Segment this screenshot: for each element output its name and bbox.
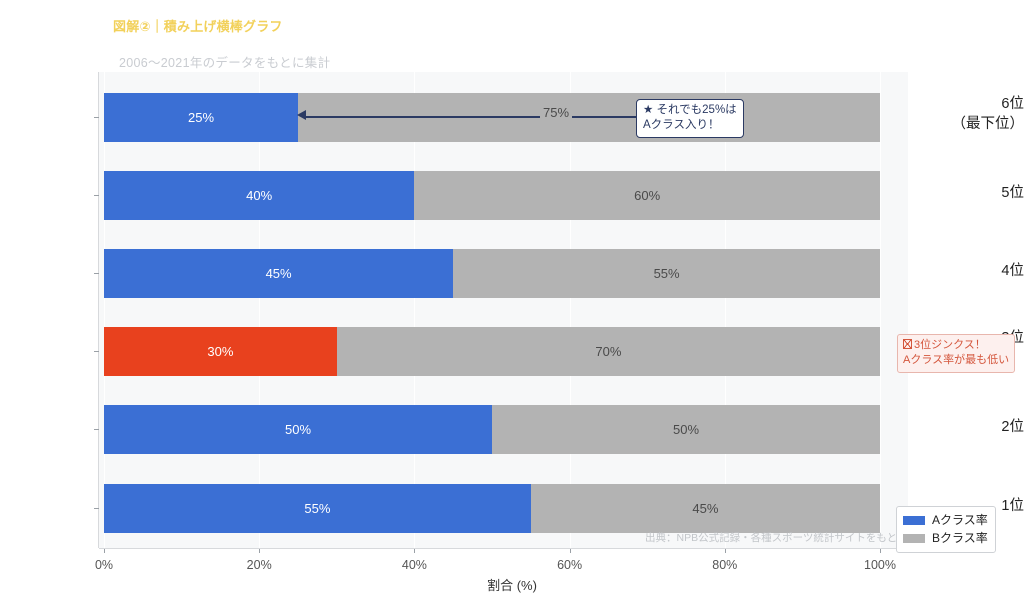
annotation-arrow-head-icon: [297, 110, 306, 120]
bar-row: 50%50%: [0, 405, 1024, 454]
bar-segment-a[interactable]: 50%: [104, 405, 492, 454]
x-axis-label: 割合 (%): [0, 575, 1024, 594]
bar-segment-b[interactable]: 70%: [337, 327, 880, 376]
y-tick-label-sub: （最下位）: [932, 115, 1024, 135]
x-tick-mark: [570, 549, 571, 553]
gridline: [880, 72, 881, 548]
y-tick-label-main: 1位: [1001, 498, 1024, 514]
annotation-red-line2: Aクラス率が最も低い: [903, 353, 1009, 368]
legend: Aクラス率Bクラス率: [896, 506, 996, 553]
legend-swatch-b: [903, 534, 925, 543]
bar-row: 30%70%: [0, 327, 1024, 376]
x-tick-label: 60%: [557, 558, 582, 572]
bar-segment-a[interactable]: 55%: [104, 484, 531, 533]
y-tick-label: 2位: [932, 418, 1024, 438]
legend-item[interactable]: Bクラス率: [903, 529, 988, 547]
x-tick-label: 80%: [712, 558, 737, 572]
bar-segment-a[interactable]: 40%: [104, 171, 414, 220]
legend-item-label: Bクラス率: [932, 529, 988, 547]
bar-segment-a[interactable]: 25%: [104, 93, 298, 142]
annotation-red-line1: 3位ジンクス！: [914, 339, 986, 351]
x-axis-spine: [99, 548, 908, 549]
y-axis-spine: [98, 72, 99, 548]
bar-row: 40%60%: [0, 171, 1024, 220]
annotation-callout-blue: ★ それでも25%は Aクラス入り！: [636, 99, 744, 138]
bar-row: 45%55%: [0, 249, 1024, 298]
y-tick-label: 5位: [932, 184, 1024, 204]
x-tick-mark: [259, 549, 260, 553]
annotation-arrow-label: 75%: [540, 105, 572, 120]
y-tick-label-main: 2位: [1001, 419, 1024, 435]
source-note: 出典：NPB公式記録・各種スポーツ統計サイトをもとに作成: [645, 530, 929, 545]
gridline: [104, 72, 105, 548]
y-tick-mark: [94, 273, 99, 274]
bar-segment-b[interactable]: 45%: [531, 484, 880, 533]
annotation-callout-red: 3位ジンクス！ Aクラス率が最も低い: [897, 334, 1015, 373]
annotation-red-line1-wrap: 3位ジンクス！: [903, 338, 1009, 353]
legend-item[interactable]: Aクラス率: [903, 511, 988, 529]
annotation-arrow-line: [303, 116, 636, 118]
x-tick-mark: [104, 549, 105, 553]
y-tick-label: 4位: [932, 262, 1024, 282]
bar-segment-b[interactable]: 55%: [453, 249, 880, 298]
gridline: [725, 72, 726, 548]
y-tick-label-main: 4位: [1001, 263, 1024, 279]
bar-row: 55%45%: [0, 484, 1024, 533]
tofu-box-icon: [903, 339, 912, 349]
y-tick-label-main: 5位: [1001, 185, 1024, 201]
y-tick-mark: [94, 351, 99, 352]
bar-segment-a-highlight[interactable]: 30%: [104, 327, 337, 376]
x-tick-mark: [880, 549, 881, 553]
x-tick-label: 100%: [864, 558, 896, 572]
bar-segment-b[interactable]: 50%: [492, 405, 880, 454]
y-tick-mark: [94, 508, 99, 509]
chart-subtitle: 2006〜2021年のデータをもとに集計: [119, 52, 330, 71]
y-tick-mark: [94, 117, 99, 118]
gridline: [570, 72, 571, 548]
bar-segment-b[interactable]: 60%: [414, 171, 880, 220]
gridline: [259, 72, 260, 548]
y-tick-mark: [94, 429, 99, 430]
annotation-blue-line2: Aクラス入り！: [643, 118, 737, 133]
y-tick-mark: [94, 195, 99, 196]
page-title: 図解②｜積み上げ横棒グラフ: [113, 16, 283, 35]
x-tick-label: 40%: [402, 558, 427, 572]
legend-swatch-a: [903, 516, 925, 525]
gridline: [414, 72, 415, 548]
bar-segment-a[interactable]: 45%: [104, 249, 453, 298]
y-tick-label-main: 6位: [1001, 96, 1024, 112]
plot-area: [99, 72, 908, 548]
legend-item-label: Aクラス率: [932, 511, 988, 529]
annotation-blue-line1: ★ それでも25%は: [643, 103, 737, 118]
y-tick-label: 6位（最下位）: [932, 95, 1024, 134]
x-tick-label: 0%: [95, 558, 113, 572]
x-tick-label: 20%: [247, 558, 272, 572]
x-tick-mark: [414, 549, 415, 553]
x-tick-mark: [725, 549, 726, 553]
